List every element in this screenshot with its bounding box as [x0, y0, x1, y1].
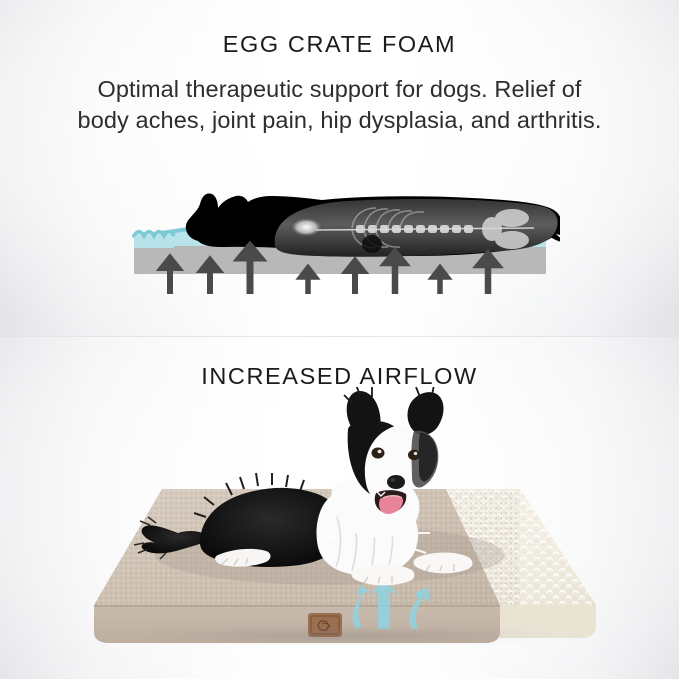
section-subtitle: Optimal therapeutic support for dogs. Re…: [28, 74, 651, 136]
border-collie-on-orthopedic-dog-bed: [0, 337, 679, 679]
dog-nose: [387, 475, 405, 489]
subtitle-line-1: Optimal therapeutic support for dogs. Re…: [28, 74, 651, 105]
product-infographic: EGG CRATE FOAM Optimal therapeutic suppo…: [0, 0, 679, 679]
section-heading-egg-crate-foam: EGG CRATE FOAM: [0, 31, 679, 58]
pressure-arrow: [202, 260, 218, 294]
xray-diagram-svg: [120, 168, 560, 308]
pressure-arrow: [347, 261, 363, 294]
egg-crate-foam-section: EGG CRATE FOAM Optimal therapeutic suppo…: [0, 0, 679, 337]
pressure-arrow: [162, 258, 178, 294]
increased-airflow-section: INCREASED AIRFLOW: [0, 337, 679, 679]
pressure-arrow: [433, 268, 447, 294]
bed-floor-shadow: [72, 625, 612, 647]
border-collie-dog: [134, 385, 505, 585]
dog-xray-on-foam-diagram: [120, 168, 560, 308]
pressure-arrow: [301, 268, 315, 294]
subtitle-line-2: body aches, joint pain, hip dysplasia, a…: [28, 105, 651, 136]
